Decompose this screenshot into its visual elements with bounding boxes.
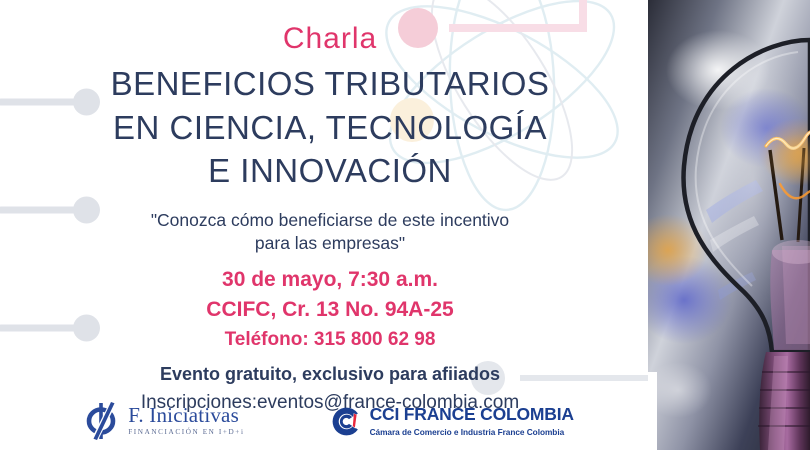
kicker-label: Charla bbox=[0, 24, 660, 54]
cci-tagline: Cámara de Comercio e Industria France Co… bbox=[370, 428, 574, 436]
logo-finiciativas: F. Iniciativas FINANCIACIÓN EN I+D+i bbox=[86, 401, 244, 441]
free-event-note: Evento gratuito, exclusivo para afiiados bbox=[0, 364, 660, 385]
finiciativas-tagline: FINANCIACIÓN EN I+D+i bbox=[128, 429, 244, 436]
event-date-time: 30 de mayo, 7:30 a.m. bbox=[0, 265, 660, 295]
page-title: BENEFICIOS TRIBUTARIOS EN CIENCIA, TECNO… bbox=[0, 62, 660, 193]
cci-circle-icon bbox=[331, 406, 362, 437]
event-quote: "Conozca cómo beneficiarse de este incen… bbox=[0, 209, 660, 256]
cci-wordmark: CCI FRANCE COLOMBIA Cámara de Comercio e… bbox=[370, 406, 574, 436]
event-poster: Charla BENEFICIOS TRIBUTARIOS EN CIENCIA… bbox=[0, 0, 810, 450]
sponsor-logos: F. Iniciativas FINANCIACIÓN EN I+D+i CCI… bbox=[0, 392, 660, 450]
finiciativas-wordmark: F. Iniciativas FINANCIACIÓN EN I+D+i bbox=[128, 405, 244, 436]
finiciativas-name: F. Iniciativas bbox=[128, 403, 239, 427]
finiciativas-monogram-icon bbox=[86, 401, 120, 441]
poster-content: Charla BENEFICIOS TRIBUTARIOS EN CIENCIA… bbox=[0, 0, 660, 450]
event-venue: CCIFC, Cr. 13 No. 94A-25 bbox=[0, 295, 660, 325]
contact-phone: Teléfono: 315 800 62 98 bbox=[0, 326, 660, 354]
lightbulb-photo bbox=[648, 0, 810, 450]
logo-ccifc: CCI FRANCE COLOMBIA Cámara de Comercio e… bbox=[331, 406, 574, 437]
cci-name: CCI FRANCE COLOMBIA bbox=[370, 404, 574, 424]
